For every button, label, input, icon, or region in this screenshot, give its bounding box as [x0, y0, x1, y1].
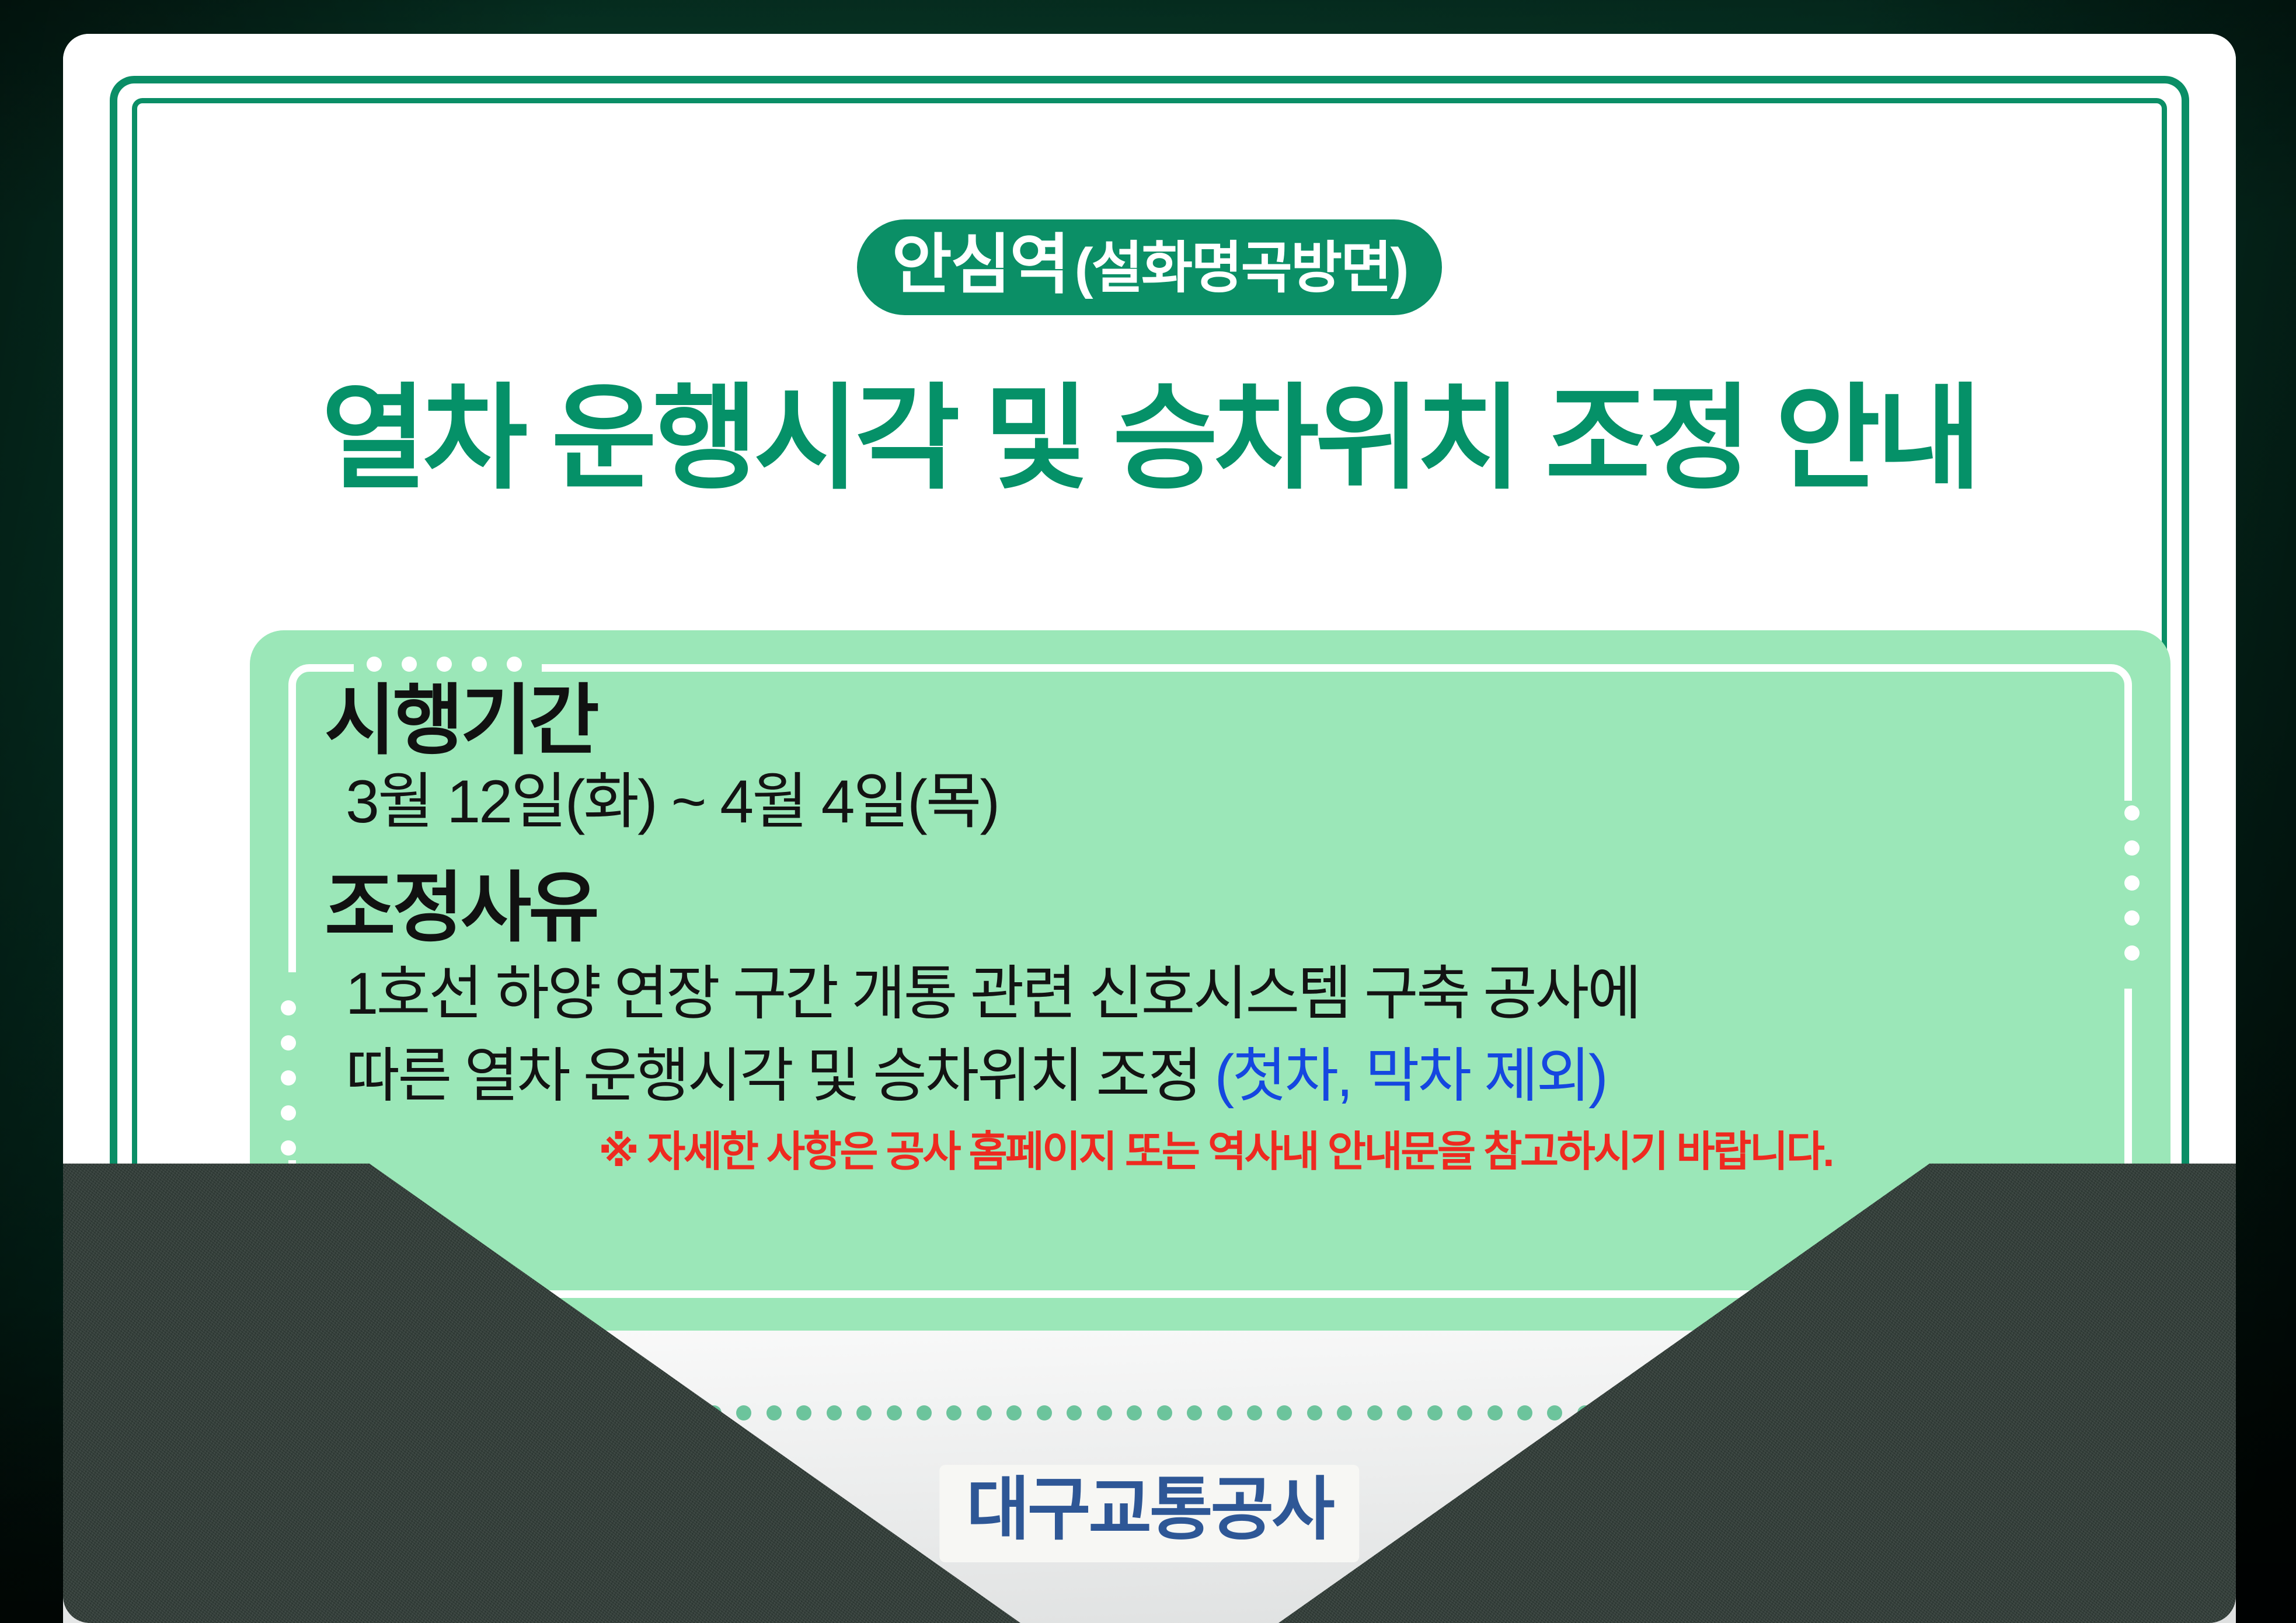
station-direction: (설화명곡방면) — [1075, 240, 1407, 296]
panel-dots-top — [367, 657, 522, 672]
reason-line-2-highlight: (첫차, 막차 제외) — [1215, 1043, 1606, 1109]
period-value: 3월 12일(화) ~ 4월 4일(목) — [325, 766, 2106, 838]
footnote-text: ※ 자세한 사항은 공사 홈페이지 또는 역사내 안내문을 참고하시기 바랍니다… — [325, 1131, 2106, 1173]
white-envelope-card: 안심역 (설화명곡방면) 열차 운행시각 및 승차위치 조정 안내 — [63, 34, 2236, 1623]
reason-label: 조정사유 — [325, 868, 2106, 949]
reason-line-2-plain: 따른 열차 운행시각 및 승차위치 조정 — [346, 1043, 1215, 1109]
panel-content: 시행기간 3월 12일(화) ~ 4월 4일(목) 조정사유 1호선 하양 연장… — [325, 680, 2106, 1296]
period-label: 시행기간 — [325, 680, 2106, 762]
station-name: 안심역 — [892, 232, 1069, 298]
station-badge-row: 안심역 (설화명곡방면) — [63, 219, 2236, 315]
page-title: 열차 운행시각 및 승차위치 조정 안내 — [63, 377, 2236, 501]
notice-poster: 안심역 (설화명곡방면) 열차 운행시각 및 승차위치 조정 안내 — [0, 0, 2296, 1623]
corporate-logo: 대구교통공사 — [939, 1465, 1359, 1562]
panel-dots-left — [281, 1000, 296, 1156]
panel-dots-right — [2124, 805, 2140, 961]
logo-text: 대구교통공사 — [966, 1473, 1332, 1547]
station-badge: 안심역 (설화명곡방면) — [857, 219, 1443, 315]
reason-line-1: 1호선 하양 연장 구간 개통 관련 신호시스템 구축 공사에 — [325, 957, 2106, 1031]
reason-line-2: 따른 열차 운행시각 및 승차위치 조정 (첫차, 막차 제외) — [325, 1039, 2106, 1114]
